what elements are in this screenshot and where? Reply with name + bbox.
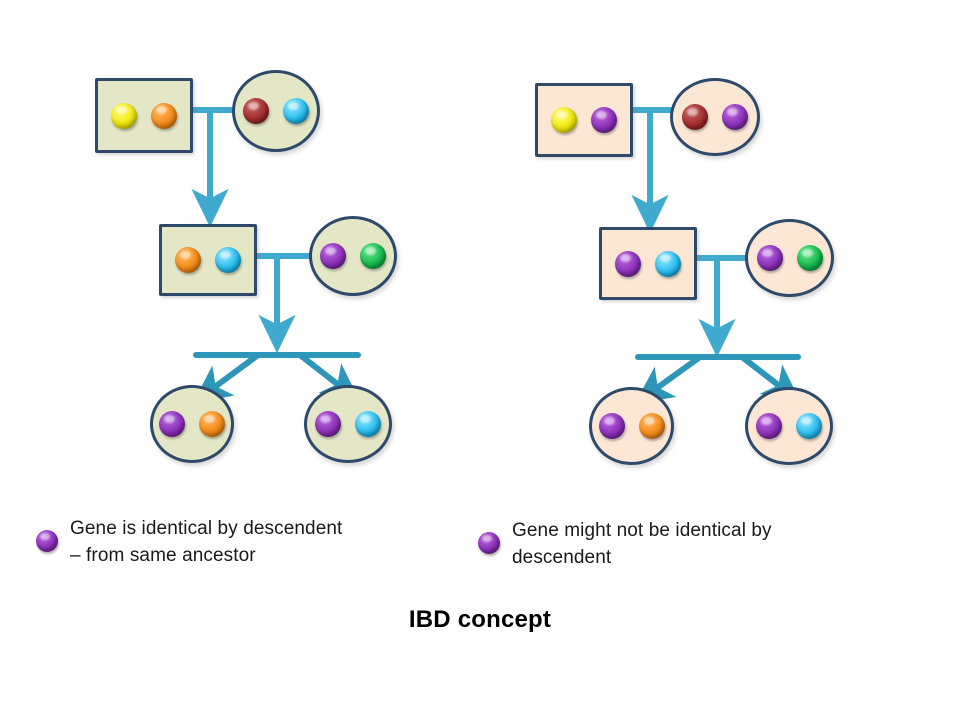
right-gen3-child-1-circle[interactable] [589,387,674,465]
left-gen1-mother-circle[interactable] [232,70,320,152]
allele-darkred [682,104,708,130]
allele-orange [175,247,201,273]
allele-cyan [655,251,681,277]
right-gen2-mating-line [697,258,752,338]
allele-orange [639,413,665,439]
legend-purple-dot-icon [478,532,500,554]
allele-purple [599,413,625,439]
right-gen2-mother-circle[interactable] [745,219,834,297]
allele-green [360,243,386,269]
legend-left: Gene is identical by descendent – from s… [36,516,436,570]
left-gen3-child-1-circle[interactable] [150,385,234,463]
slide-title: IBD concept [0,606,960,634]
legend-left-text: Gene is identical by descendent – from s… [70,516,342,570]
left-gen2-father-square[interactable] [159,224,257,296]
allele-orange [151,103,177,129]
allele-purple [320,243,346,269]
left-gen2-mating-line [257,256,312,334]
legend-left-line1: Gene is identical by descendent [70,518,342,539]
legend-right: Gene might not be identical by descenden… [478,518,878,572]
right-sibship-fork [638,357,798,393]
right-gen1-mating-line [633,110,674,214]
allele-cyan [796,413,822,439]
legend-right-line2: descendent [512,547,611,568]
allele-purple [591,107,617,133]
right-gen1-father-square[interactable] [535,83,633,157]
legend-right-line1: Gene might not be identical by [512,520,772,541]
allele-yellow [111,103,137,129]
left-gen2-mother-circle[interactable] [309,216,397,296]
left-gen3-child-2-circle[interactable] [304,385,392,463]
allele-purple [756,413,782,439]
left-gen1-father-square[interactable] [95,78,193,153]
allele-yellow [551,107,577,133]
allele-purple [159,411,185,437]
allele-cyan [283,98,309,124]
allele-purple [315,411,341,437]
allele-cyan [355,411,381,437]
left-gen1-mating-line [192,110,236,208]
legend-right-text: Gene might not be identical by descenden… [512,518,772,572]
allele-purple [722,104,748,130]
allele-orange [199,411,225,437]
right-gen2-father-square[interactable] [599,227,697,300]
legend-purple-dot-icon [36,530,58,552]
allele-cyan [215,247,241,273]
allele-purple [615,251,641,277]
right-gen3-child-2-circle[interactable] [745,387,833,465]
allele-green [797,245,823,271]
legend-left-line2: – from same ancestor [70,545,256,566]
right-gen1-mother-circle[interactable] [670,78,760,156]
slide-canvas: Gene is identical by descendent – from s… [0,0,960,720]
allele-purple [757,245,783,271]
allele-darkred [243,98,269,124]
